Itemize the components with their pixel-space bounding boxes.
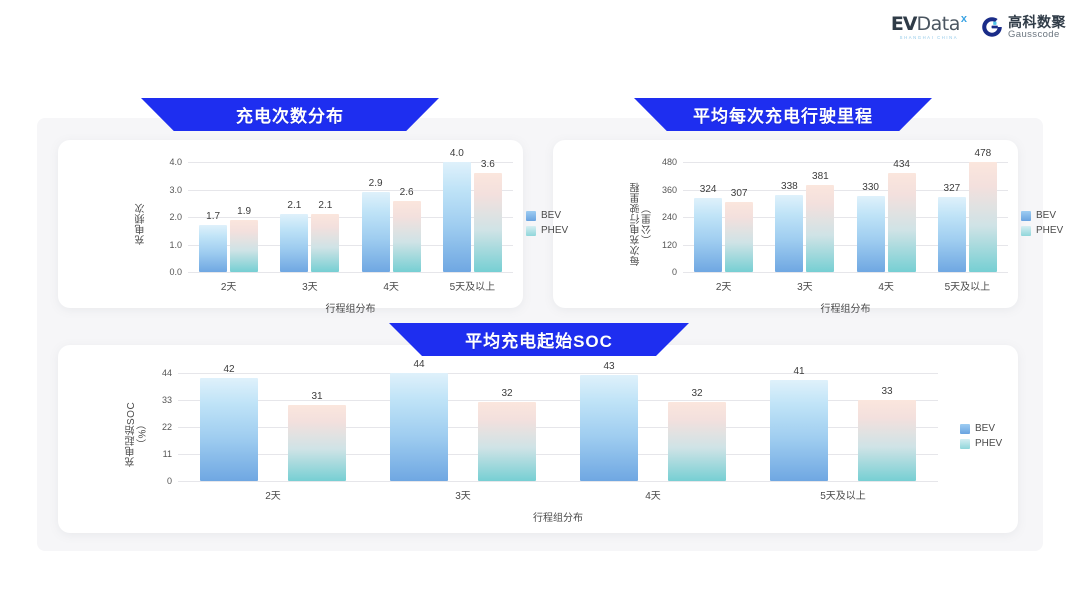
x-axis-tick: 5天及以上	[945, 278, 991, 293]
evdata-ev-text: EV	[891, 15, 917, 34]
legend-swatch-bev-icon	[526, 211, 536, 221]
gausscode-logo: 高科数聚 Gausscode	[981, 15, 1066, 40]
bar-value-label: 33	[881, 386, 892, 397]
bar-value-label: 324	[700, 184, 717, 195]
banner-title-1: 充电次数分布	[236, 102, 344, 127]
legend-item-bev[interactable]: BEV	[960, 423, 1002, 434]
bar-group: 327478	[927, 162, 1008, 272]
bar-value-label: 381	[812, 171, 829, 182]
bar-phev[interactable]: 381	[806, 185, 834, 272]
bar-group: 2.92.6	[351, 162, 432, 272]
gridline	[683, 272, 1008, 273]
gausscode-cn-text: 高科数聚	[1008, 15, 1066, 29]
y-axis-tick: 22	[162, 422, 172, 432]
bar-bev[interactable]: 41	[770, 380, 828, 481]
y-axis-tick: 120	[662, 240, 677, 250]
bar-group: 324307	[683, 162, 764, 272]
gausscode-wordmark: 高科数聚 Gausscode	[1008, 15, 1066, 40]
y-axis-tick: 360	[662, 185, 677, 195]
header-logos: EV Data x SHANGHAI CHINA 高科数聚 Gausscode	[891, 14, 1066, 40]
bar-group: 4231	[178, 373, 368, 481]
x-axis-tick: 2天	[716, 278, 732, 293]
bar-value-label: 478	[975, 148, 992, 159]
y-axis-tick: 480	[662, 157, 677, 167]
evdata-logo: EV Data x SHANGHAI CHINA	[891, 14, 967, 40]
bar-phev[interactable]: 32	[668, 402, 726, 481]
x-axis-tick: 2天	[221, 278, 237, 293]
bar-bev[interactable]: 324	[694, 198, 722, 272]
gridline	[178, 481, 938, 482]
bar-bev[interactable]: 42	[200, 378, 258, 481]
chart-legend: BEVPHEV	[960, 423, 1002, 453]
legend-label-phev: PHEV	[975, 438, 1002, 449]
bar-value-label: 4.0	[450, 148, 464, 159]
bar-bev[interactable]: 2.9	[362, 192, 390, 272]
gausscode-en-text: Gausscode	[1008, 30, 1066, 40]
banner-title-2: 平均每次充电行驶里程	[693, 102, 873, 127]
gausscode-mark-icon	[981, 16, 1003, 38]
bar-value-label: 2.9	[369, 178, 383, 189]
legend-label-phev: PHEV	[1036, 225, 1063, 236]
bar-value-label: 32	[501, 388, 512, 399]
bar-value-label: 330	[862, 182, 879, 193]
y-axis-tick: 240	[662, 212, 677, 222]
x-axis-label: 行程组分布	[533, 509, 583, 524]
legend-item-phev[interactable]: PHEV	[1021, 225, 1063, 236]
bar-phev[interactable]: 2.6	[393, 201, 421, 273]
y-axis-tick: 0	[167, 476, 172, 486]
bar-value-label: 41	[793, 366, 804, 377]
bar-value-label: 43	[603, 361, 614, 372]
bar-chart-avg-mileage: 每次充电行驶里程（公里）01202403604803243072天3383813…	[553, 140, 1018, 308]
legend-swatch-bev-icon	[960, 424, 970, 434]
bar-value-label: 1.9	[237, 206, 251, 217]
y-axis-tick: 11	[163, 449, 172, 459]
bar-phev[interactable]: 478	[969, 162, 997, 272]
bar-group: 4332	[558, 373, 748, 481]
bar-group: 4.03.6	[432, 162, 513, 272]
bar-value-label: 44	[413, 359, 424, 370]
bar-value-label: 307	[731, 188, 748, 199]
evdata-data-text: Data	[917, 15, 960, 34]
y-axis-tick: 1.0	[169, 240, 182, 250]
banner-avg-mileage: 平均每次充电行驶里程	[634, 98, 932, 131]
legend-swatch-phev-icon	[960, 439, 970, 449]
bar-phev[interactable]: 434	[888, 173, 916, 272]
bar-group: 330434	[846, 162, 927, 272]
bar-chart-start-soc: 充电起始SOC（%）01122334442312天44323天43324天413…	[58, 345, 1018, 533]
bar-group: 4432	[368, 373, 558, 481]
bar-group: 338381	[764, 162, 845, 272]
bar-value-label: 42	[223, 364, 234, 375]
y-axis-label: 每次充电行驶里程（公里）	[631, 170, 654, 278]
chart-legend: BEVPHEV	[1021, 210, 1063, 240]
legend-label-bev: BEV	[1036, 210, 1056, 221]
y-axis-tick: 2.0	[169, 212, 182, 222]
legend-item-phev[interactable]: PHEV	[960, 438, 1002, 449]
bar-bev[interactable]: 330	[857, 196, 885, 272]
bar-value-label: 3.6	[481, 159, 495, 170]
legend-swatch-phev-icon	[526, 226, 536, 236]
gridline	[188, 272, 513, 273]
y-axis-tick: 33	[162, 395, 172, 405]
evdata-wordmark: EV Data x	[891, 14, 967, 33]
bar-value-label: 2.6	[400, 187, 414, 198]
bar-value-label: 2.1	[287, 200, 301, 211]
x-axis-tick: 4天	[383, 278, 399, 293]
bar-value-label: 1.7	[206, 211, 220, 222]
bar-value-label: 2.1	[318, 200, 332, 211]
bar-bev[interactable]: 44	[390, 373, 448, 481]
evdata-subtitle: SHANGHAI CHINA	[900, 35, 958, 40]
x-axis-tick: 2天	[265, 487, 281, 502]
bar-phev[interactable]: 32	[478, 402, 536, 481]
x-axis-tick: 3天	[302, 278, 318, 293]
legend-swatch-bev-icon	[1021, 211, 1031, 221]
bar-bev[interactable]: 4.0	[443, 162, 471, 272]
x-axis-label: 行程组分布	[326, 300, 376, 315]
y-axis-tick: 0	[672, 267, 677, 277]
evdata-x-icon: x	[961, 14, 967, 25]
bar-phev[interactable]: 1.9	[230, 220, 258, 272]
x-axis-tick: 4天	[645, 487, 661, 502]
bar-value-label: 32	[691, 388, 702, 399]
bar-bev[interactable]: 327	[938, 197, 966, 272]
bar-group: 1.71.9	[188, 162, 269, 272]
bar-value-label: 338	[781, 181, 798, 192]
bar-phev[interactable]: 33	[858, 400, 916, 481]
x-axis-tick: 3天	[797, 278, 813, 293]
x-axis-tick: 4天	[878, 278, 894, 293]
bar-phev[interactable]: 3.6	[474, 173, 502, 272]
bar-value-label: 327	[944, 183, 961, 194]
bar-phev[interactable]: 307	[725, 202, 753, 272]
bar-value-label: 434	[893, 159, 910, 170]
x-axis-tick: 5天及以上	[450, 278, 496, 293]
legend-swatch-phev-icon	[1021, 226, 1031, 236]
bar-group: 2.12.1	[269, 162, 350, 272]
bar-chart-charging-frequency: 充电频次0.01.02.03.04.01.71.92天2.12.13天2.92.…	[58, 140, 523, 308]
y-axis-tick: 3.0	[169, 185, 182, 195]
legend-label-bev: BEV	[975, 423, 995, 434]
bar-phev[interactable]: 31	[288, 405, 346, 481]
x-axis-tick: 3天	[455, 487, 471, 502]
bar-group: 4133	[748, 373, 938, 481]
y-axis-tick: 4.0	[169, 157, 182, 167]
y-axis-label: 充电频次	[136, 186, 148, 262]
x-axis-label: 行程组分布	[821, 300, 871, 315]
slide-root: EV Data x SHANGHAI CHINA 高科数聚 Gausscode	[0, 0, 1080, 608]
x-axis-tick: 5天及以上	[820, 487, 866, 502]
bar-phev[interactable]: 2.1	[311, 214, 339, 272]
legend-item-bev[interactable]: BEV	[1021, 210, 1063, 221]
bar-value-label: 31	[311, 391, 322, 402]
bar-bev[interactable]: 1.7	[199, 225, 227, 272]
bar-bev[interactable]: 2.1	[280, 214, 308, 272]
y-axis-tick: 44	[162, 368, 172, 378]
y-axis-label: 充电起始SOC（%）	[126, 379, 149, 489]
bar-bev[interactable]: 338	[775, 195, 803, 272]
y-axis-tick: 0.0	[169, 267, 182, 277]
bar-bev[interactable]: 43	[580, 375, 638, 481]
banner-charging-frequency: 充电次数分布	[141, 98, 439, 131]
